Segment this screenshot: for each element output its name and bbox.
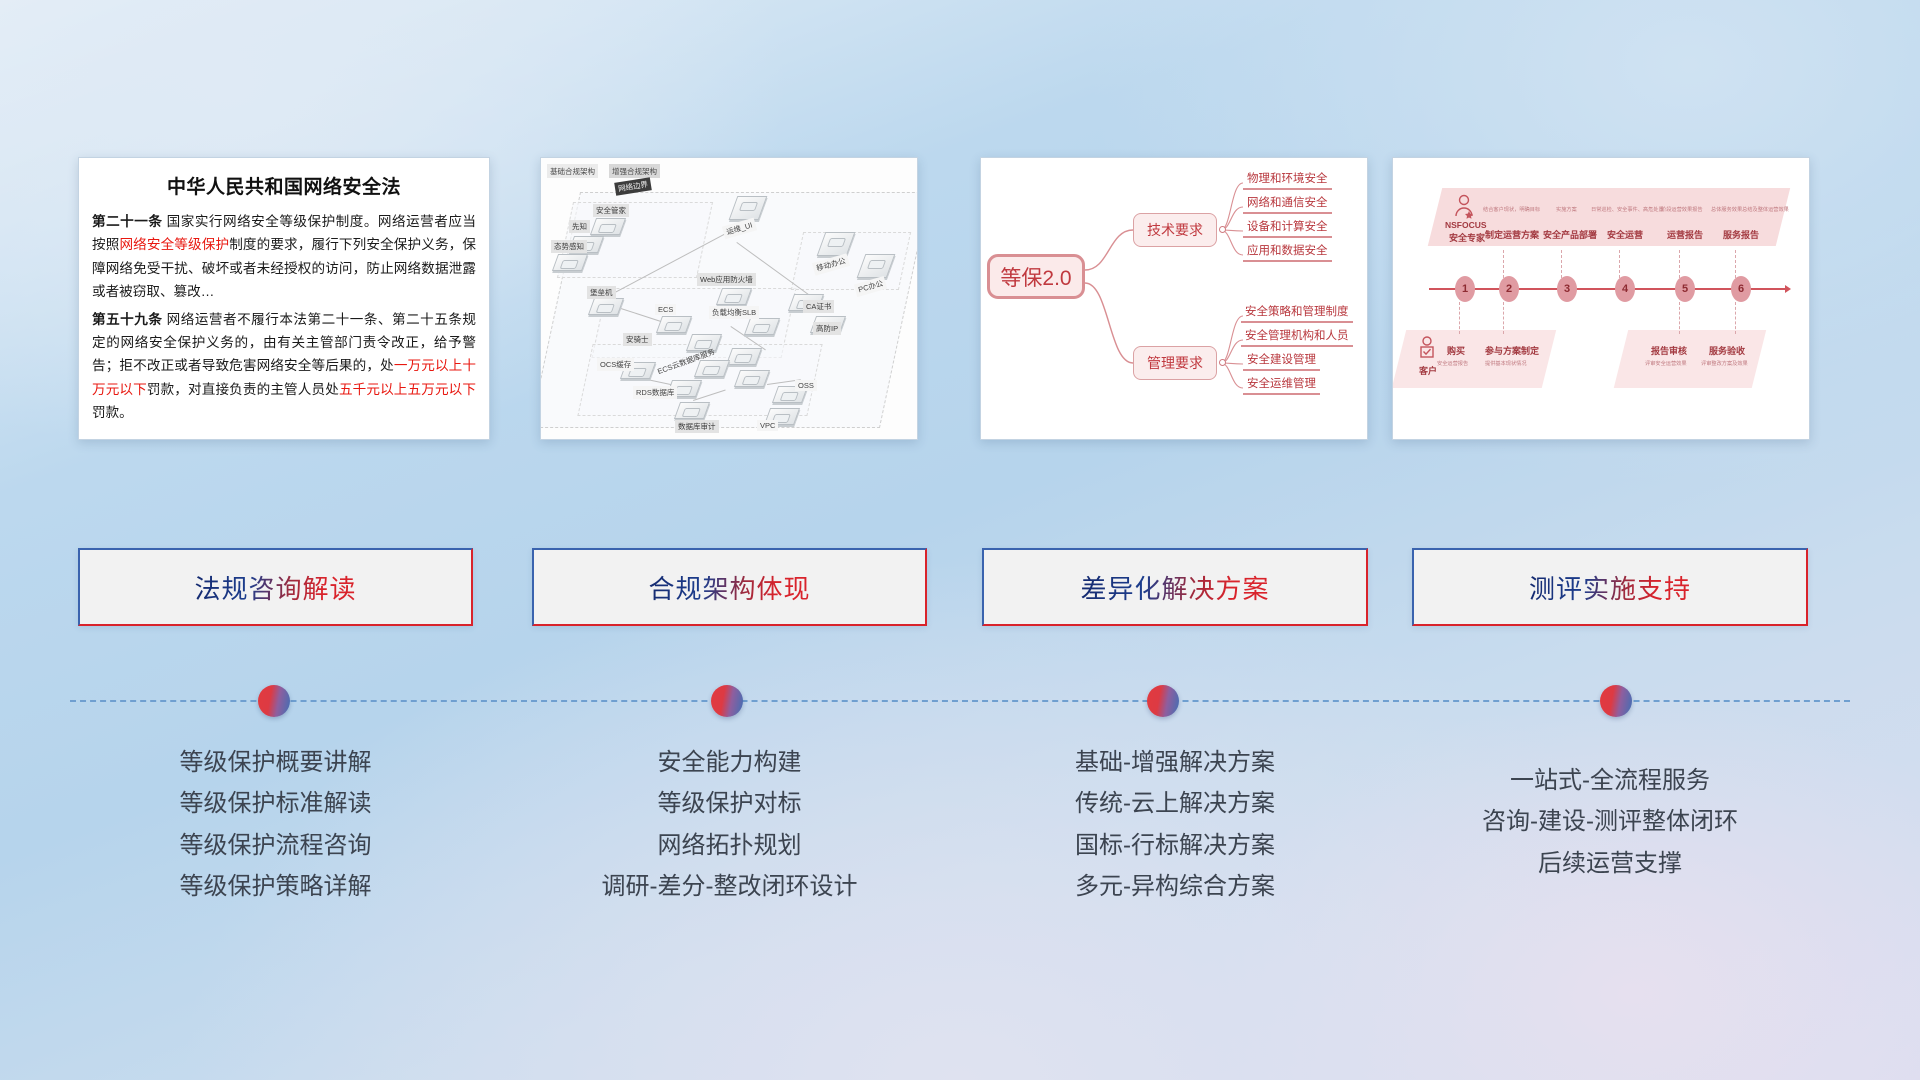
law-article-59-fine-2: 五千元以上五万元以下 — [339, 382, 476, 397]
list-item: 网络拓扑规划 — [532, 825, 927, 866]
expert-brand-label: NSFOCUS — [1445, 220, 1487, 230]
process-step-tick — [1679, 302, 1680, 334]
section-headings: 法规咨询解读 合规架构体现 差异化解决方案 测评实施支持 — [0, 548, 1920, 626]
arch-device-block — [593, 218, 623, 235]
list-item: 等级保护标准解读 — [78, 783, 473, 824]
list-compliance-architecture: 安全能力构建 等级保护对标 网络拓扑规划 调研-差分-整改闭环设计 — [532, 742, 927, 907]
arch-label: 负载均衡SLB — [709, 306, 759, 319]
law-article-59-part3: 罚款。 — [92, 405, 133, 420]
mindmap-leaf: 设备和计算安全 — [1243, 218, 1332, 238]
mindmap-leaf: 安全运维管理 — [1243, 375, 1320, 395]
law-article-59-label: 第五十九条 — [92, 312, 162, 327]
pc-device-icon — [857, 254, 896, 278]
process-step-bottom-label: 参与方案制定 — [1485, 344, 1539, 357]
mindmap-root: 等保2.0 — [987, 254, 1085, 299]
arch-label: 堡垒机 — [587, 286, 616, 299]
user-terminal-icon — [729, 196, 768, 220]
process-step-top-sub: 总体服务效果总结及整体运营效果 — [1711, 206, 1789, 213]
db-audit-icon — [674, 402, 710, 419]
card-service-process: NSFOCUS 安全专家 客户 1 购买 安全运营报告 2 制定运营方案 结合客… — [1392, 157, 1810, 440]
mindmap-canvas: 等保2.0 技术要求 管理要求 物理和环境安全 网络和通信安全 设备和计算安全 … — [981, 158, 1367, 439]
process-step-top-sub: 日常巡检、安全事件、高危处置 — [1591, 206, 1664, 213]
arch-label: 安全管家 — [593, 204, 629, 217]
heading-label: 法规咨询解读 — [194, 569, 356, 606]
customer-icon — [1417, 336, 1437, 367]
mindmap-node-dot — [1219, 359, 1226, 366]
law-article-21-highlight: 网络安全等级保护 — [119, 237, 229, 252]
arch-label: 安骑士 — [623, 333, 652, 346]
process-step-bottom-sub: 提供基本现状情况 — [1485, 360, 1527, 367]
timeline-marker-1[interactable] — [258, 685, 290, 717]
expert-role-label: 安全专家 — [1449, 231, 1485, 244]
process-step-tick — [1503, 302, 1504, 334]
process-step-bottom-sub: 安全运营报告 — [1437, 360, 1468, 367]
law-title: 中华人民共和国网络安全法 — [79, 172, 489, 199]
heading-box-compliance-architecture[interactable]: 合规架构体现 — [532, 548, 927, 626]
law-article-59: 第五十九条 网络运营者不履行本法第二十一条、第二十五条规定的网络安全保护义务的，… — [92, 308, 476, 425]
customer-role-label: 客户 — [1419, 364, 1437, 377]
process-step-node: 1 — [1455, 276, 1475, 302]
heading-box-evaluation-support[interactable]: 测评实施支持 — [1412, 548, 1808, 626]
heading-label: 差异化解决方案 — [1080, 569, 1269, 606]
process-step-top-sub: 实施方案 — [1556, 206, 1577, 213]
mindmap-node-dot — [1219, 226, 1226, 233]
slb-icon — [744, 318, 780, 335]
card-architecture-diagram: 基础合规架构 增强合规架构 — [540, 157, 918, 440]
slide-canvas: 中华人民共和国网络安全法 第二十一条 国家实行网络安全等级保护制度。网络运营者应… — [0, 0, 1920, 1080]
timeline-marker-2[interactable] — [711, 685, 743, 717]
list-item: 安全能力构建 — [532, 742, 927, 783]
process-step-node: 2 — [1499, 276, 1519, 302]
process-step-top-label: 安全产品部署 — [1543, 228, 1597, 241]
process-step-bottom-label: 报告审核 — [1651, 344, 1687, 357]
ecs-node-icon — [726, 348, 762, 365]
process-step-top-label: 服务报告 — [1723, 228, 1759, 241]
process-step-bottom-sub: 评审安全运营效果 — [1645, 360, 1687, 367]
list-regulation-consulting: 等级保护概要讲解 等级保护标准解读 等级保护流程咨询 等级保护策略详解 — [78, 742, 473, 907]
list-item: 后续运营支撑 — [1412, 843, 1808, 884]
server-icon — [552, 254, 588, 271]
list-item: 一站式-全流程服务 — [1412, 760, 1808, 801]
process-step-bottom-label: 购买 — [1447, 344, 1465, 357]
mindmap-leaf: 应用和数据安全 — [1243, 242, 1332, 262]
arch-device-block — [747, 318, 777, 335]
card-law-text: 中华人民共和国网络安全法 第二十一条 国家实行网络安全等级保护制度。网络运营者应… — [78, 157, 490, 440]
arch-label: CA证书 — [803, 300, 834, 313]
arch-device-block — [719, 288, 749, 305]
list-item: 传统-云上解决方案 — [982, 783, 1368, 824]
arch-device-block — [555, 254, 585, 271]
list-item: 多元-异构综合方案 — [982, 866, 1368, 907]
process-step-tick — [1619, 250, 1620, 278]
heading-box-regulation-consulting[interactable]: 法规咨询解读 — [78, 548, 473, 626]
mindmap-leaf: 安全策略和管理制度 — [1241, 303, 1353, 323]
process-canvas: NSFOCUS 安全专家 客户 1 购买 安全运营报告 2 制定运营方案 结合客… — [1393, 158, 1809, 439]
architecture-canvas: 基础合规架构 增强合规架构 — [541, 158, 917, 439]
mindmap-leaf: 网络和通信安全 — [1243, 194, 1332, 214]
process-step-node: 6 — [1731, 276, 1751, 302]
arch-label: 先知 — [569, 220, 590, 233]
server-icon — [590, 218, 626, 235]
waf-icon — [716, 288, 752, 305]
list-differentiated-solution: 基础-增强解决方案 传统-云上解决方案 国标-行标解决方案 多元-异构综合方案 — [982, 742, 1368, 907]
heading-label: 测评实施支持 — [1529, 569, 1691, 606]
arch-label: RDS数据库 — [633, 386, 677, 399]
process-step-top-sub: 阶段运营效果报告 — [1661, 206, 1703, 213]
law-article-59-part2: 罚款，对直接负责的主管人员处 — [147, 382, 339, 397]
list-item: 基础-增强解决方案 — [982, 742, 1368, 783]
arch-device-block — [733, 196, 763, 220]
process-step-tick — [1735, 250, 1736, 278]
list-item: 调研-差分-整改闭环设计 — [532, 866, 927, 907]
arch-device-block — [591, 298, 621, 315]
list-item: 等级保护策略详解 — [78, 866, 473, 907]
law-body: 第二十一条 国家实行网络安全等级保护制度。网络运营者应当按照网络安全等级保护制度… — [79, 210, 489, 424]
arch-label: OSS — [795, 380, 817, 391]
arch-label: OCS缓存 — [597, 358, 634, 371]
list-item: 咨询-建设-测评整体闭环 — [1412, 801, 1808, 842]
mindmap-leaf: 安全建设管理 — [1243, 351, 1320, 371]
heading-label: 合规架构体现 — [648, 569, 810, 606]
mindmap-branch-technical: 技术要求 — [1133, 213, 1217, 247]
process-axis-arrow-icon — [1785, 285, 1791, 293]
arch-device-block — [729, 348, 759, 365]
mobile-device-icon — [817, 232, 856, 256]
list-item: 等级保护流程咨询 — [78, 825, 473, 866]
list-item: 等级保护概要讲解 — [78, 742, 473, 783]
process-step-tick — [1679, 250, 1680, 278]
arch-label: ECS — [655, 304, 676, 315]
heading-box-differentiated-solution[interactable]: 差异化解决方案 — [982, 548, 1368, 626]
process-step-bottom-sub: 评审整改方案及效果 — [1701, 360, 1748, 367]
mindmap-leaf: 安全管理机构和人员 — [1241, 327, 1353, 347]
arch-label: VPC — [757, 420, 778, 431]
process-step-tick — [1735, 302, 1736, 334]
timeline-marker-4[interactable] — [1600, 685, 1632, 717]
arch-device-block — [861, 254, 891, 278]
list-item: 国标-行标解决方案 — [982, 825, 1368, 866]
card-mindmap: 等保2.0 技术要求 管理要求 物理和环境安全 网络和通信安全 设备和计算安全 … — [980, 157, 1368, 440]
timeline-axis — [70, 700, 1850, 702]
mindmap-leaf: 物理和环境安全 — [1243, 170, 1332, 190]
arch-device-block — [659, 316, 689, 333]
list-evaluation-support: 一站式-全流程服务 咨询-建设-测评整体闭环 后续运营支撑 — [1412, 760, 1808, 884]
process-step-node: 4 — [1615, 276, 1635, 302]
server-icon — [588, 298, 624, 315]
arch-device-block — [737, 370, 767, 387]
process-step-bottom-label: 服务验收 — [1709, 344, 1745, 357]
mindmap-branch-management: 管理要求 — [1133, 346, 1217, 380]
ecs-icon — [656, 316, 692, 333]
process-bottom-band-right — [1614, 330, 1766, 388]
process-step-tick — [1503, 250, 1504, 278]
ecs-node-icon — [734, 370, 770, 387]
process-step-tick — [1561, 250, 1562, 278]
arch-label: 态势感知 — [551, 240, 587, 253]
arch-label: 高防IP — [813, 322, 841, 335]
process-step-node: 3 — [1557, 276, 1577, 302]
arch-tab-enhanced: 增强合规架构 — [609, 164, 660, 178]
process-step-node: 5 — [1675, 276, 1695, 302]
arch-label: 数据库审计 — [675, 420, 719, 433]
law-article-21: 第二十一条 国家实行网络安全等级保护制度。网络运营者应当按照网络安全等级保护制度… — [92, 210, 476, 304]
law-article-21-label: 第二十一条 — [92, 214, 162, 229]
process-step-top-sub: 结合客户现状，明确目标 — [1483, 206, 1540, 213]
process-step-top-label: 安全运营 — [1607, 228, 1643, 241]
process-step-tick — [1459, 302, 1460, 334]
arch-device-block — [677, 402, 707, 419]
arch-tab-basic: 基础合规架构 — [547, 164, 598, 178]
timeline-marker-3[interactable] — [1147, 685, 1179, 717]
list-item: 等级保护对标 — [532, 783, 927, 824]
process-step-top-label: 运营报告 — [1667, 228, 1703, 241]
process-step-top-label: 制定运营方案 — [1485, 228, 1539, 241]
arch-label: Web应用防火墙 — [697, 273, 756, 286]
